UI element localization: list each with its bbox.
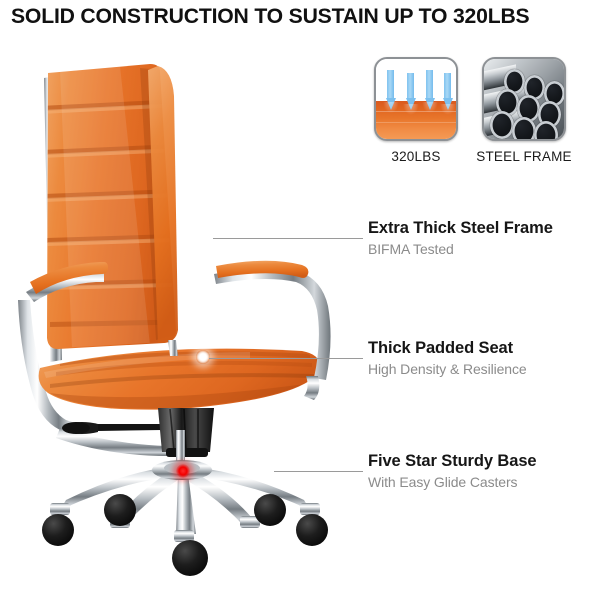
caster-wheel [42, 514, 74, 546]
callout-subtitle: High Density & Resilience [368, 361, 600, 377]
callout-marker-padded-seat[interactable] [196, 350, 210, 364]
caster-wheel [172, 540, 208, 576]
badge-label: STEEL FRAME [460, 149, 588, 164]
callout-title: Thick Padded Seat [368, 339, 600, 358]
callout-title: Extra Thick Steel Frame [368, 219, 600, 238]
callout-subtitle: BIFMA Tested [368, 241, 600, 257]
callout-title: Five Star Sturdy Base [368, 452, 600, 471]
callout-subtitle: With Easy Glide Casters [368, 474, 600, 490]
callout-leader-line-padded-seat [209, 358, 363, 359]
callout-marker-steel-frame[interactable] [200, 231, 214, 245]
caster-wheel [254, 494, 286, 526]
chair-backrest [40, 64, 210, 349]
caster-wheel [296, 514, 328, 546]
callout-steel-frame: Extra Thick Steel Frame BIFMA Tested [368, 219, 600, 257]
tilt-lever [62, 422, 162, 434]
chair-illustration [0, 0, 380, 600]
callout-padded-seat: Thick Padded Seat High Density & Resilie… [368, 339, 600, 377]
badge-load-capacity: 320LBS [374, 57, 458, 141]
caster-wheel [104, 494, 136, 526]
product-image-office-chair [0, 0, 380, 600]
downward-pressure-arrows-icon [374, 57, 458, 141]
steel-tubes-icon [482, 57, 566, 141]
callout-five-star-base: Five Star Sturdy Base With Easy Glide Ca… [368, 452, 600, 490]
callout-leader-line-steel-frame [213, 238, 363, 239]
badge-steel-frame: STEEL FRAME [482, 57, 566, 141]
callout-marker-five-star-base[interactable] [176, 464, 190, 478]
callout-leader-line-five-star-base [274, 471, 363, 472]
infographic-canvas: SOLID CONSTRUCTION TO SUSTAIN UP TO 320L… [0, 0, 600, 600]
